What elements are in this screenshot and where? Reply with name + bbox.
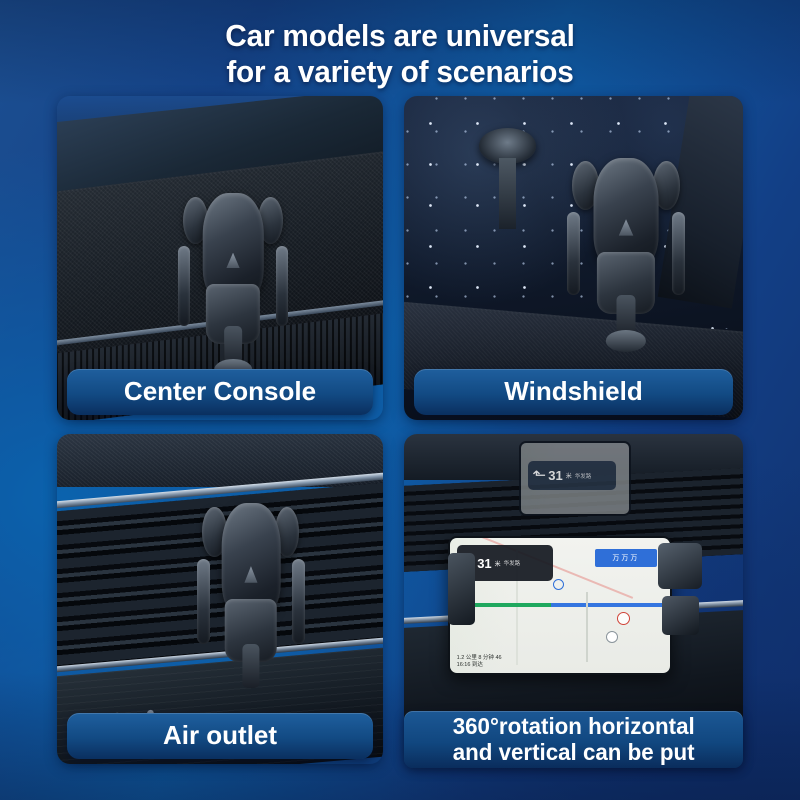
- holder-ball-joint: [662, 596, 699, 636]
- holder-arm-left: [197, 559, 209, 644]
- nav-eta-line-1: 1.2 公里 8 分钟 46: [457, 655, 502, 662]
- phone-landscape[interactable]: 万万万 ⬑ 31 米 华发路 1.2 公里 8 分钟 46 16:16 到达: [448, 536, 672, 675]
- holder-arm-right: [658, 543, 702, 589]
- nav-road-name: 华发路: [504, 559, 521, 567]
- nav-distance: 31: [477, 557, 491, 570]
- caption-center-console: Center Console: [67, 369, 373, 415]
- holder-vent-clip: [242, 644, 259, 688]
- holder-arm-left: [178, 246, 191, 326]
- nav-eta-line-2: 16:16 到达: [457, 662, 502, 669]
- phone-holder-device: [181, 193, 285, 368]
- caption-windshield: Windshield: [414, 369, 733, 415]
- mount-stem: [499, 158, 516, 229]
- holder-ball-joint: [606, 330, 646, 352]
- phone-holder-device: [570, 158, 682, 339]
- page-title-line-1: Car models are universal: [16, 18, 784, 54]
- map-sign-banner: 万万万: [595, 549, 657, 566]
- holder-arm-left: [567, 212, 580, 295]
- nav-eta-summary: 1.2 公里 8 分钟 46 16:16 到达: [457, 655, 502, 669]
- nav-instruction-card: ⬑ 31 米 华发路: [528, 461, 616, 490]
- phone-holder-device: [200, 503, 301, 688]
- phone-portrait: ⬑ 31 米 华发路: [519, 441, 631, 517]
- nav-distance-unit: 米: [495, 559, 501, 568]
- nav-road-name: 华发路: [575, 472, 592, 480]
- caption-360-line-1: 360°rotation horizontal: [453, 714, 695, 740]
- nav-distance: 31: [548, 469, 562, 482]
- holder-arm-left: [448, 553, 475, 626]
- map-road-vertical: [586, 592, 588, 662]
- holder-arm-right: [276, 246, 289, 326]
- nav-map[interactable]: 万万万 ⬑ 31 米 华发路 1.2 公里 8 分钟 46 16:16 到达: [450, 538, 670, 673]
- map-marker-icon: [606, 631, 618, 643]
- holder-arm-right: [292, 559, 304, 644]
- map-poi-circle: [553, 579, 564, 590]
- map-speed-limit-icon: [617, 612, 630, 625]
- caption-360-rotation: 360°rotation horizontal and vertical can…: [404, 711, 743, 768]
- page-title-line-2: for a variety of scenarios: [16, 54, 784, 90]
- nav-turn-arrow-icon: ⬑: [532, 468, 546, 483]
- nav-distance-unit: 米: [566, 471, 572, 480]
- caption-air-outlet: Air outlet: [67, 713, 373, 759]
- page-title: Car models are universal for a variety o…: [0, 18, 800, 90]
- map-route-line: [450, 603, 670, 607]
- caption-360-line-2: and vertical can be put: [453, 740, 695, 766]
- holder-arm-right: [672, 212, 685, 295]
